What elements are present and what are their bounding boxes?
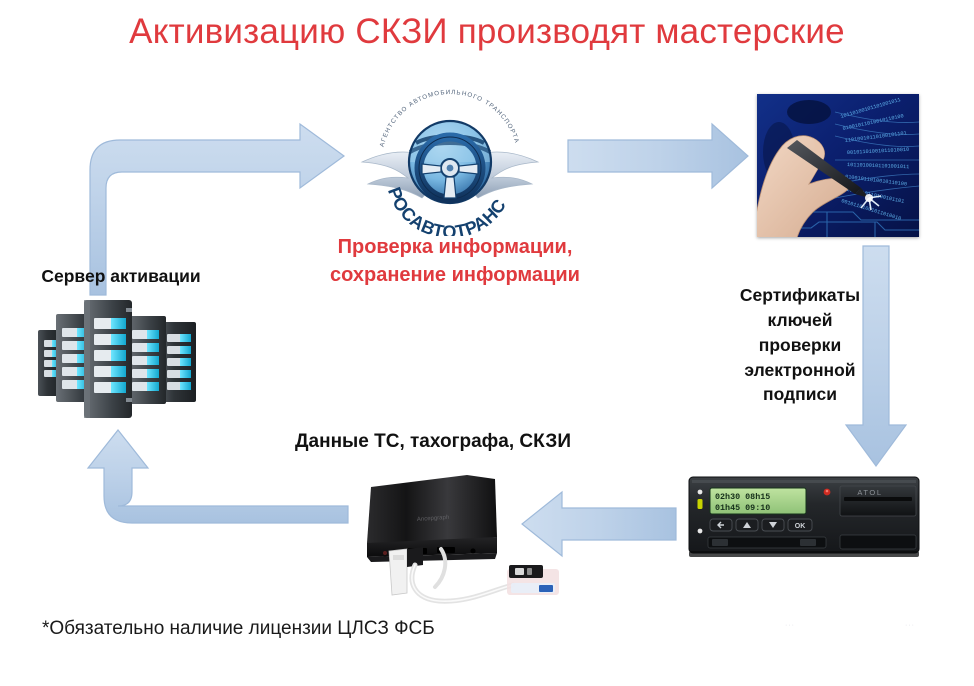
lcd-line-2: 01h45 09:10 xyxy=(715,503,770,513)
artifact-mark-right: ··· xyxy=(905,622,915,629)
label-certificates-line2: ключей xyxy=(700,308,900,333)
tacho-brand-label: ATOL xyxy=(857,488,882,497)
label-information-check-line1: Проверка информации, xyxy=(285,233,625,261)
label-vehicle-data: Данные ТС, тахографа, СКЗИ xyxy=(238,430,628,454)
skzi-module-with-card-reader: Ancepgraph xyxy=(345,465,595,610)
rosavtotrans-logo: АГЕНТСТВО АВТОМОБИЛЬНОГО ТРАНСПОРТА xyxy=(352,88,548,236)
label-certificates-line4: электронной xyxy=(700,358,900,383)
slide-canvas: Активизацию СКЗИ производят мастерские xyxy=(0,0,974,686)
artifact-mark-left: ··· xyxy=(785,622,795,629)
digital-tachograph: 02h30 08h15 01h45 09:10 OK xyxy=(688,473,920,563)
digital-signature-photo: 10110100101101001011 0100101101001011010… xyxy=(757,94,919,237)
label-information-check: Проверка информации, сохранение информац… xyxy=(285,233,625,289)
label-information-check-line2: сохранение информации xyxy=(285,261,625,289)
label-license-footnote: *Обязательно наличие лицензии ЦЛСЗ ФСБ xyxy=(42,617,562,641)
label-certificates-line5: подписи xyxy=(700,382,900,407)
arrow-logo-to-signature xyxy=(568,124,748,188)
activation-server-racks xyxy=(22,292,222,422)
label-activation-server: Сервер активации xyxy=(6,265,236,287)
label-certificates: Сертификаты ключей проверки электронной … xyxy=(700,283,900,407)
label-certificates-line3: проверки xyxy=(700,333,900,358)
lcd-line-1: 02h30 08h15 xyxy=(715,492,770,502)
label-certificates-line1: Сертификаты xyxy=(700,283,900,308)
tacho-ok-button-label: OK xyxy=(795,523,806,530)
